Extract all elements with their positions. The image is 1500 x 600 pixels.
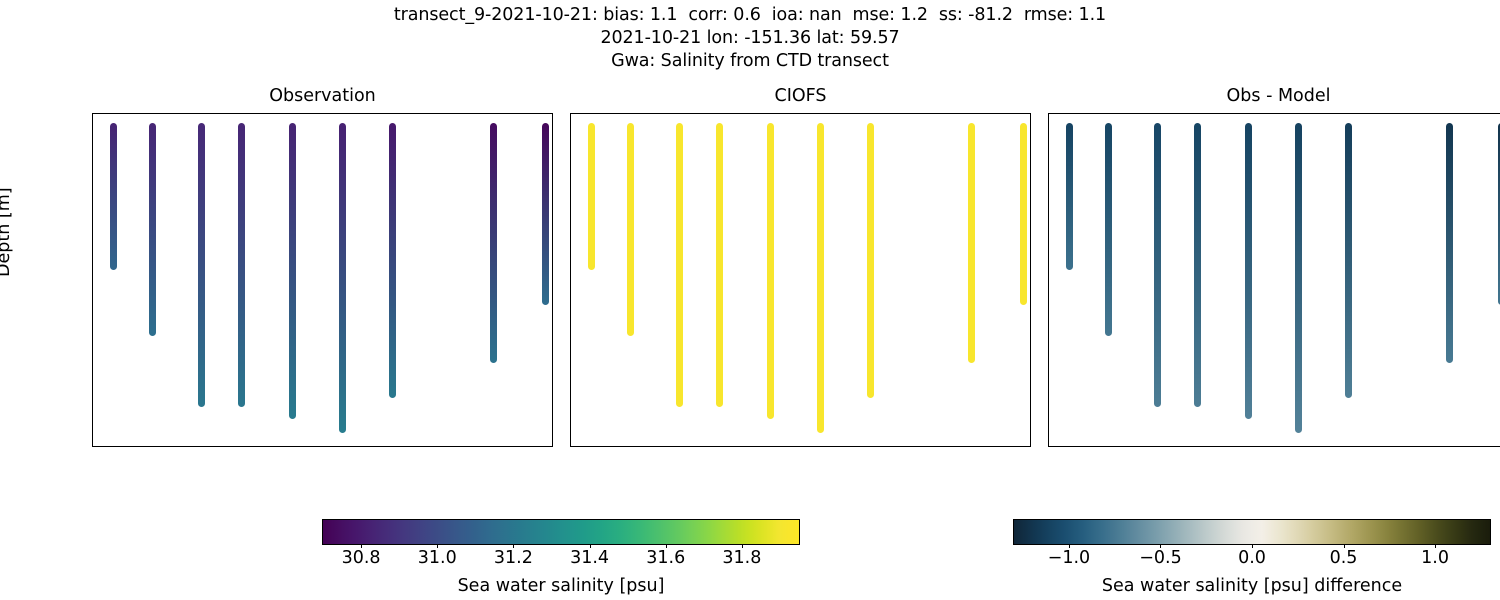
x-tick <box>702 446 703 447</box>
y-tick <box>92 305 93 306</box>
colorbar-tick-label: 31.4 <box>570 550 609 568</box>
profile-station-3 <box>1154 123 1161 407</box>
suptitle-line-stats: transect_9-2021-10-21: bias: 1.1 corr: 0… <box>0 4 1500 27</box>
profile-station-1 <box>110 123 117 270</box>
x-tick <box>1400 446 1401 447</box>
plot-area <box>1049 114 1500 446</box>
profile-station-1 <box>588 123 595 270</box>
panel-title: Obs - Model <box>1048 86 1500 106</box>
profile-station-8 <box>1446 123 1453 363</box>
profile-station-6 <box>1295 123 1302 433</box>
colorbar-tick-label: 31.2 <box>494 550 533 568</box>
plot-area <box>93 114 552 446</box>
plot-axes: 0−20−40−60−80−10001234along-transect dis… <box>92 113 553 447</box>
panel-title: Observation <box>92 86 553 106</box>
colorbar-gradient: −1.0−0.50.00.51.0Sea water salinity [psu… <box>1013 519 1491 545</box>
y-tick <box>1048 245 1049 246</box>
profile-station-7 <box>867 123 874 398</box>
y-tick <box>92 123 93 124</box>
y-tick <box>1048 305 1049 306</box>
plot-area <box>571 114 1030 446</box>
y-tick <box>92 366 93 367</box>
x-tick <box>114 446 115 447</box>
y-tick <box>92 184 93 185</box>
colorbar-label: Sea water salinity [psu] difference <box>1014 576 1490 596</box>
colorbar-tick-label: 0.5 <box>1330 550 1358 568</box>
x-tick <box>1070 446 1071 447</box>
profile-station-3 <box>676 123 683 407</box>
x-tick <box>812 446 813 447</box>
y-tick <box>92 245 93 246</box>
y-tick <box>1048 184 1049 185</box>
y-tick <box>1048 366 1049 367</box>
colorbar-label: Sea water salinity [psu] <box>323 576 799 596</box>
profile-station-9 <box>542 123 549 305</box>
y-tick <box>1048 123 1049 124</box>
x-tick <box>1180 446 1181 447</box>
profile-station-8 <box>490 123 497 363</box>
x-tick <box>922 446 923 447</box>
profile-station-5 <box>289 123 296 419</box>
profile-station-4 <box>716 123 723 407</box>
y-tick <box>570 305 571 306</box>
profile-station-4 <box>1194 123 1201 407</box>
profile-station-7 <box>389 123 396 398</box>
y-axis-label: Depth [m] <box>0 187 14 277</box>
colorbar-salinity-difference: −1.0−0.50.00.51.0Sea water salinity [psu… <box>1013 519 1491 545</box>
plot-axes: 01234along-transect distance [km] <box>570 113 1031 447</box>
colorbar-tick-label: 31.0 <box>418 550 457 568</box>
profile-station-5 <box>767 123 774 419</box>
y-tick <box>92 427 93 428</box>
x-tick <box>592 446 593 447</box>
profile-station-6 <box>817 123 824 433</box>
colorbar-tick-label: 0.0 <box>1238 550 1266 568</box>
y-tick <box>570 366 571 367</box>
profile-station-7 <box>1345 123 1352 398</box>
y-tick <box>570 184 571 185</box>
plot-axes: 01234along-transect distance [km] <box>1048 113 1500 447</box>
profile-station-2 <box>1105 123 1112 336</box>
y-tick <box>1048 427 1049 428</box>
colorbar-tick-label: 1.0 <box>1421 550 1449 568</box>
colorbar-tick-label: 31.6 <box>646 550 685 568</box>
profile-station-3 <box>198 123 205 407</box>
x-tick <box>444 446 445 447</box>
y-tick <box>570 245 571 246</box>
profile-station-6 <box>339 123 346 433</box>
colorbar-tick-label: −1.0 <box>1048 550 1091 568</box>
x-tick <box>1290 446 1291 447</box>
figure-suptitle: transect_9-2021-10-21: bias: 1.1 corr: 0… <box>0 4 1500 73</box>
profile-station-5 <box>1245 123 1252 419</box>
profile-station-1 <box>1066 123 1073 270</box>
suptitle-line-coords: 2021-10-21 lon: -151.36 lat: 59.57 <box>0 27 1500 50</box>
profile-station-9 <box>1020 123 1027 305</box>
colorbar-tick-label: 30.8 <box>342 550 381 568</box>
profile-station-2 <box>149 123 156 336</box>
x-tick <box>224 446 225 447</box>
profile-station-2 <box>627 123 634 336</box>
colorbar-gradient: 30.831.031.231.431.631.8Sea water salini… <box>322 519 800 545</box>
colorbar-salinity: 30.831.031.231.431.631.8Sea water salini… <box>322 519 800 545</box>
suptitle-line-source: Gwa: Salinity from CTD transect <box>0 50 1500 73</box>
y-tick <box>570 123 571 124</box>
colorbar-tick-label: 31.8 <box>722 550 761 568</box>
profile-station-8 <box>968 123 975 363</box>
y-tick <box>570 427 571 428</box>
colorbar-tick-label: −0.5 <box>1139 550 1182 568</box>
profile-station-4 <box>238 123 245 407</box>
panel-title: CIOFS <box>570 86 1031 106</box>
x-tick <box>334 446 335 447</box>
